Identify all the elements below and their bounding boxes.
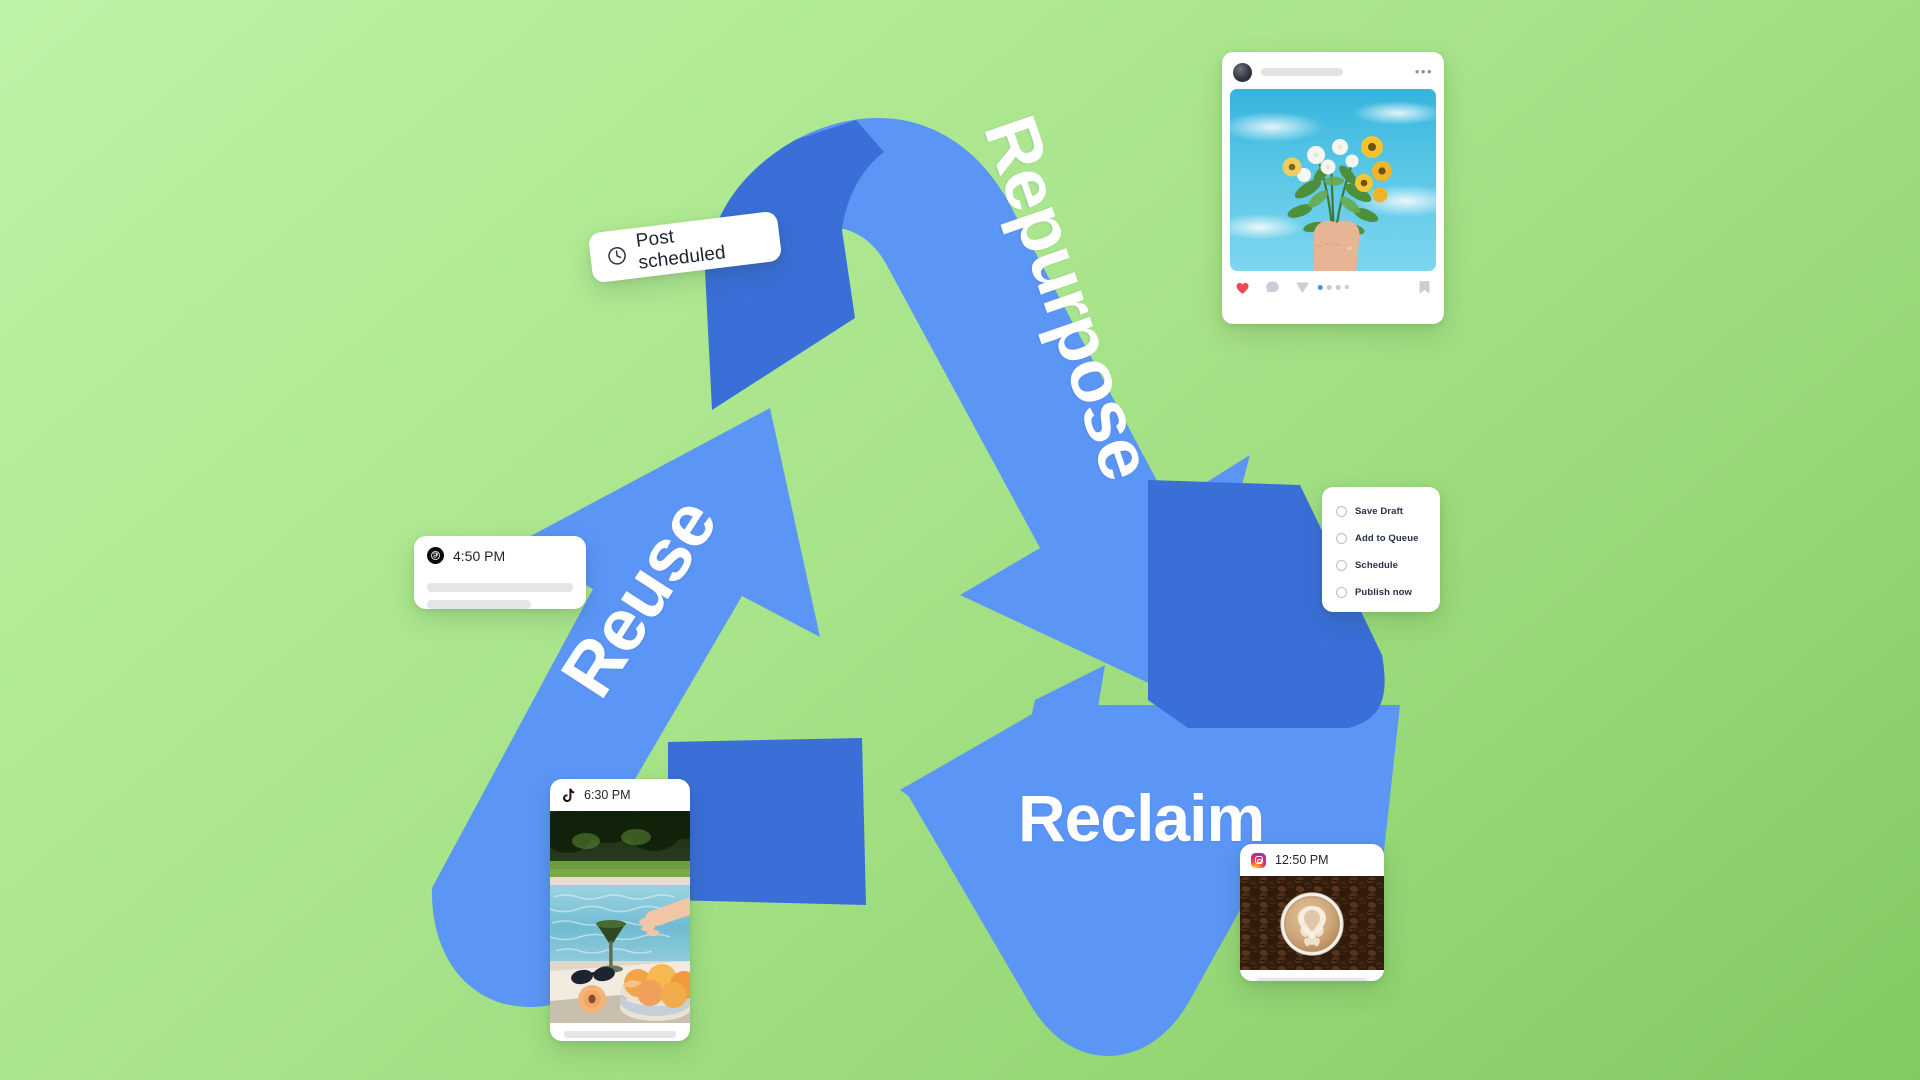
carousel-dot[interactable] [1345, 285, 1349, 289]
radio-option-schedule[interactable]: Schedule [1322, 552, 1440, 579]
radio-label: Save Draft [1355, 506, 1403, 517]
content-placeholder-line [1256, 978, 1368, 981]
more-options-icon[interactable]: ••• [1415, 68, 1433, 76]
instagram-scheduled-card[interactable]: 12:50 PM [1240, 844, 1384, 981]
instagram-post-card[interactable]: ••• [1222, 52, 1444, 324]
clock-icon [605, 244, 628, 267]
share-icon[interactable] [1294, 279, 1311, 296]
radio-icon[interactable] [1336, 533, 1347, 544]
tiktok-card-photo [550, 811, 690, 1023]
radio-icon[interactable] [1336, 506, 1347, 517]
avatar [1233, 63, 1252, 82]
tiktok-scheduled-card[interactable]: 6:30 PM [550, 779, 690, 1041]
instagram-card-photo [1240, 876, 1384, 970]
instagram-card-header: 12:50 PM [1240, 851, 1384, 869]
content-placeholder-line [427, 583, 573, 592]
tiktok-card-time: 6:30 PM [584, 788, 631, 802]
content-placeholder-line [564, 1031, 676, 1038]
recycle-symbol [0, 0, 1920, 1080]
radio-icon[interactable] [1336, 587, 1347, 598]
carousel-dot[interactable] [1336, 285, 1341, 290]
bookmark-icon[interactable] [1417, 279, 1432, 296]
instagram-card-time: 12:50 PM [1275, 853, 1329, 867]
radio-label: Publish now [1355, 587, 1412, 598]
instagram-post-header: ••• [1230, 60, 1436, 82]
label-reclaim: Reclaim [1018, 780, 1264, 856]
threads-scheduled-card[interactable]: 4:50 PM [414, 536, 586, 609]
fold-bottom-left [668, 738, 866, 905]
radio-label: Add to Queue [1355, 533, 1418, 544]
threads-icon [427, 547, 444, 564]
instagram-action-bar [1230, 271, 1436, 303]
post-photo [1230, 89, 1436, 271]
threads-card-header: 4:50 PM [427, 547, 573, 564]
tiktok-icon [561, 788, 575, 803]
radio-label: Schedule [1355, 560, 1398, 571]
heart-icon[interactable] [1234, 279, 1251, 296]
carousel-dots [1318, 285, 1349, 290]
canvas: Repurpose Reuse Reclaim Post scheduled •… [0, 0, 1920, 1080]
radio-option-publish-now[interactable]: Publish now [1322, 579, 1440, 606]
tiktok-card-header: 6:30 PM [550, 786, 690, 804]
threads-card-time: 4:50 PM [453, 548, 505, 564]
content-placeholder-line [427, 600, 531, 609]
radio-icon[interactable] [1336, 560, 1347, 571]
username-placeholder [1261, 68, 1343, 76]
instagram-icon [1251, 853, 1266, 868]
radio-option-add-to-queue[interactable]: Add to Queue [1322, 525, 1440, 552]
comment-icon[interactable] [1264, 279, 1281, 296]
radio-option-save-draft[interactable]: Save Draft [1322, 498, 1440, 525]
carousel-dot[interactable] [1327, 285, 1332, 290]
publish-action-list[interactable]: Save Draft Add to Queue Schedule Publish… [1322, 487, 1440, 612]
carousel-dot[interactable] [1318, 285, 1323, 290]
